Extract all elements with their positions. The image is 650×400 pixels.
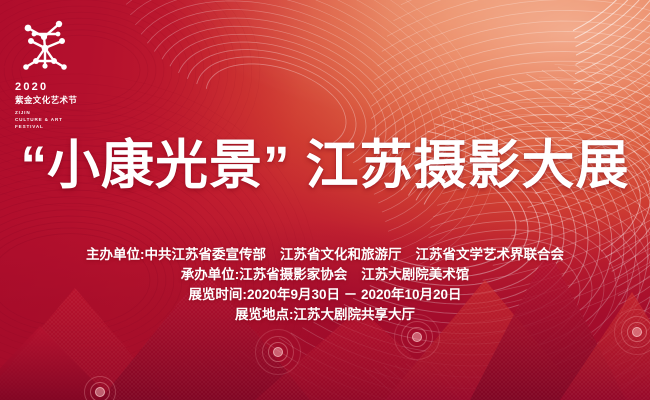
info-line: 展览地点:江苏大剧院共享大厅 xyxy=(0,305,650,325)
info-value: 2020年9月30日 － 2020年10月20日 xyxy=(247,287,462,302)
zijin-logo-mark-icon xyxy=(14,14,76,76)
logo-en-line-1: ZIJIN xyxy=(15,109,86,116)
poster-title: “小康光景”江苏摄影大展 xyxy=(0,139,650,192)
info-value: 江苏大剧院共享大厅 xyxy=(294,307,416,322)
title-quote-close: ” xyxy=(263,136,290,195)
logo-en-line-3: FESTIVAL xyxy=(15,123,86,130)
info-label: 展览时间: xyxy=(188,287,247,302)
info-label: 展览地点: xyxy=(235,307,294,322)
title-subject: 江苏摄影大展 xyxy=(306,136,630,195)
title-headline: 小康光景 xyxy=(47,136,263,195)
info-value: 江苏省摄影家协会 xyxy=(239,267,347,282)
info-value: 江苏省文化和旅游厅 xyxy=(280,247,402,262)
title-quote-open: “ xyxy=(21,136,48,195)
logo-en-line-2: CULTURE & ART xyxy=(15,116,86,123)
info-line: 主办单位:中共江苏省委宣传部江苏省文化和旅游厅江苏省文学艺术界联合会 xyxy=(0,245,650,265)
info-value: 江苏省文学艺术界联合会 xyxy=(416,247,565,262)
logo-name-cn: 紫金文化艺术节 xyxy=(15,96,86,105)
info-value: 中共江苏省委宣传部 xyxy=(145,247,267,262)
event-info-block: 主办单位:中共江苏省委宣传部江苏省文化和旅游厅江苏省文学艺术界联合会承办单位:江… xyxy=(0,245,650,325)
info-line: 承办单位:江苏省摄影家协会江苏大剧院美术馆 xyxy=(0,265,650,285)
info-line: 展览时间:2020年9月30日 － 2020年10月20日 xyxy=(0,285,650,305)
info-label: 主办单位: xyxy=(86,247,145,262)
info-value: 江苏大剧院美术馆 xyxy=(361,267,469,282)
logo-year: 2020 xyxy=(15,82,86,93)
info-label: 承办单位: xyxy=(181,267,240,282)
festival-poster: 2020 紫金文化艺术节 ZIJIN CULTURE & ART FESTIVA… xyxy=(0,0,650,400)
logo-name-en: ZIJIN CULTURE & ART FESTIVAL xyxy=(15,109,86,130)
festival-logo: 2020 紫金文化艺术节 ZIJIN CULTURE & ART FESTIVA… xyxy=(12,14,86,130)
